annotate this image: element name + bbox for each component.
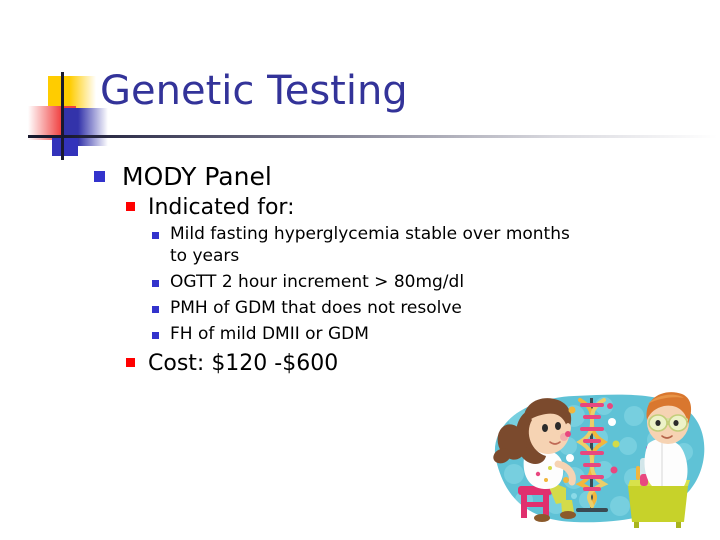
list-item: Mild fasting hyperglycemia stable over m… [148,223,590,267]
bullet-marker-square-icon [126,202,135,211]
kids-science-dna-clipart-icon [462,382,720,540]
slide-title-area: Genetic Testing [0,0,720,160]
bullet-marker-square-icon [126,358,135,367]
bullet-marker-square-icon [152,280,159,287]
bullet-marker-square-icon [152,232,159,239]
yellow-green-table [628,480,690,528]
bullet-label: OGTT 2 hour increment > 80mg/dl [170,271,590,293]
list-item: Cost: $120 -$600 [122,349,720,379]
bullet-label: Indicated for: [148,193,720,223]
bullet-list-level3: Mild fasting hyperglycemia stable over m… [148,223,720,345]
bullet-list-level1: MODY Panel Indicated for: Mild fasting h… [0,160,720,379]
bullet-marker-square-icon [152,332,159,339]
bullet-label: Mild fasting hyperglycemia stable over m… [170,223,590,267]
bullet-label: MODY Panel [122,160,720,193]
bullet-marker-square-icon [94,171,105,182]
list-item: MODY Panel Indicated for: Mild fasting h… [92,160,720,379]
list-item: OGTT 2 hour increment > 80mg/dl [148,271,590,293]
list-item: PMH of GDM that does not resolve [148,297,590,319]
logo-vertical-bar [61,72,64,160]
logo-small-blue-square [52,138,78,156]
bullet-label: Cost: $120 -$600 [148,349,720,379]
bullet-label: FH of mild DMII or GDM [170,323,590,345]
slide: Genetic Testing MODY Panel Indicated for… [0,0,720,540]
page-title: Genetic Testing [100,68,408,114]
bullet-marker-square-icon [152,306,159,313]
list-item: Indicated for: Mild fasting hyperglycemi… [122,193,720,345]
title-underline-rule [62,135,717,138]
bullet-label: PMH of GDM that does not resolve [170,297,590,319]
list-item: FH of mild DMII or GDM [148,323,590,345]
bullet-list-level2: Indicated for: Mild fasting hyperglycemi… [122,193,720,379]
